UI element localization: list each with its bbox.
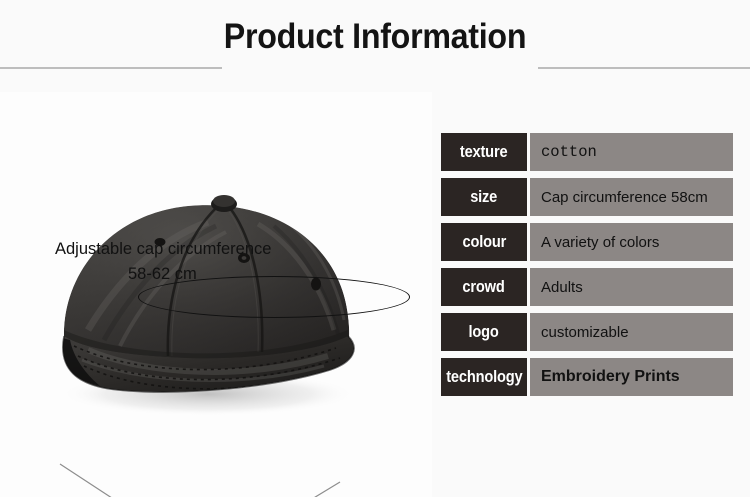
spec-label-text: size <box>471 187 498 207</box>
leader-line-brim-width <box>58 462 198 497</box>
spec-label-text: crowd <box>463 277 505 297</box>
spec-row: logocustomizable <box>441 313 733 351</box>
spec-row: colourA variety of colors <box>441 223 733 261</box>
spec-row: crowdAdults <box>441 268 733 306</box>
spec-row: technologyEmbroidery Prints <box>441 358 733 396</box>
spec-value-size: Cap circumference 58cm <box>530 178 733 216</box>
cap-photo <box>48 180 388 420</box>
leader-line-brim-length <box>212 480 342 497</box>
spec-label-size: size <box>441 178 527 216</box>
header-rule-right <box>538 67 750 69</box>
spec-value-texture: cotton <box>530 133 733 171</box>
spec-value-crowd: Adults <box>530 268 733 306</box>
spec-label-text: logo <box>469 322 499 342</box>
spec-label-crowd: crowd <box>441 268 527 306</box>
spec-label-technology: technology <box>441 358 527 396</box>
page-title: Product Information <box>30 17 720 57</box>
header-rule-left <box>0 67 222 69</box>
annotation-circumference-title: Adjustable cap circumference <box>55 240 271 259</box>
product-information-page: Product Information <box>0 0 750 497</box>
spec-label-text: colour <box>462 232 506 252</box>
annotation-circumference-value: 58-62 cm <box>128 265 197 284</box>
spec-row: sizeCap circumference 58cm <box>441 178 733 216</box>
spec-label-texture: texture <box>441 133 527 171</box>
specification-table: texturecottonsizeCap circumference 58cmc… <box>441 133 733 403</box>
product-image-panel: Adjustable cap circumference 58-62 cm 18… <box>0 92 432 497</box>
spec-label-text: technology <box>446 367 522 387</box>
cap-illustration <box>48 180 388 420</box>
spec-row: texturecotton <box>441 133 733 171</box>
spec-value-technology: Embroidery Prints <box>530 358 733 396</box>
header: Product Information <box>0 0 750 92</box>
spec-value-colour: A variety of colors <box>530 223 733 261</box>
spec-label-colour: colour <box>441 223 527 261</box>
spec-label-text: texture <box>460 142 508 162</box>
spec-label-logo: logo <box>441 313 527 351</box>
spec-value-logo: customizable <box>530 313 733 351</box>
